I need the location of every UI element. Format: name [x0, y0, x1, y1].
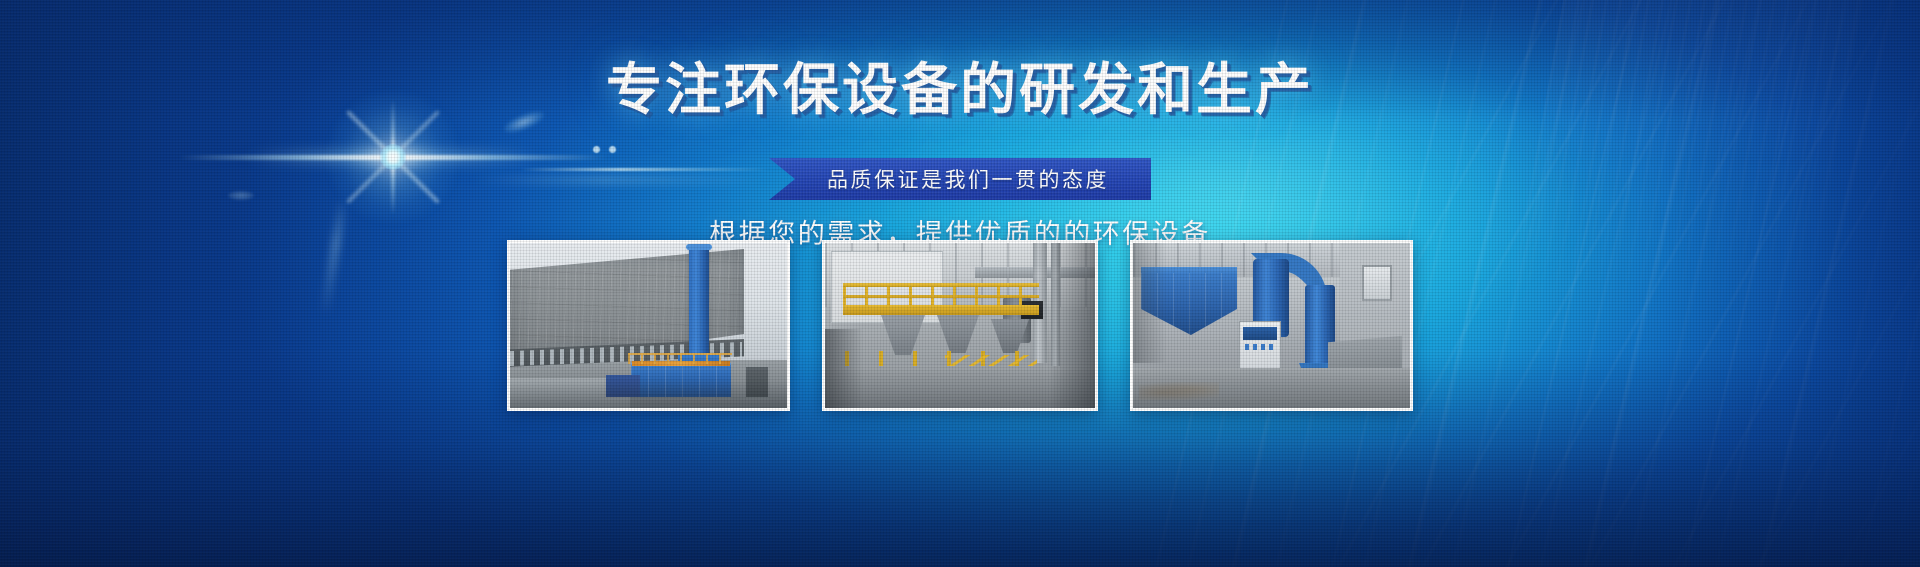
hero-banner: 专注环保设备的研发和生产 品质保证是我们一贯的态度 根据您的需求，提供优质的的环…: [0, 0, 1920, 567]
halftone-dot-overlay: [0, 0, 1920, 567]
